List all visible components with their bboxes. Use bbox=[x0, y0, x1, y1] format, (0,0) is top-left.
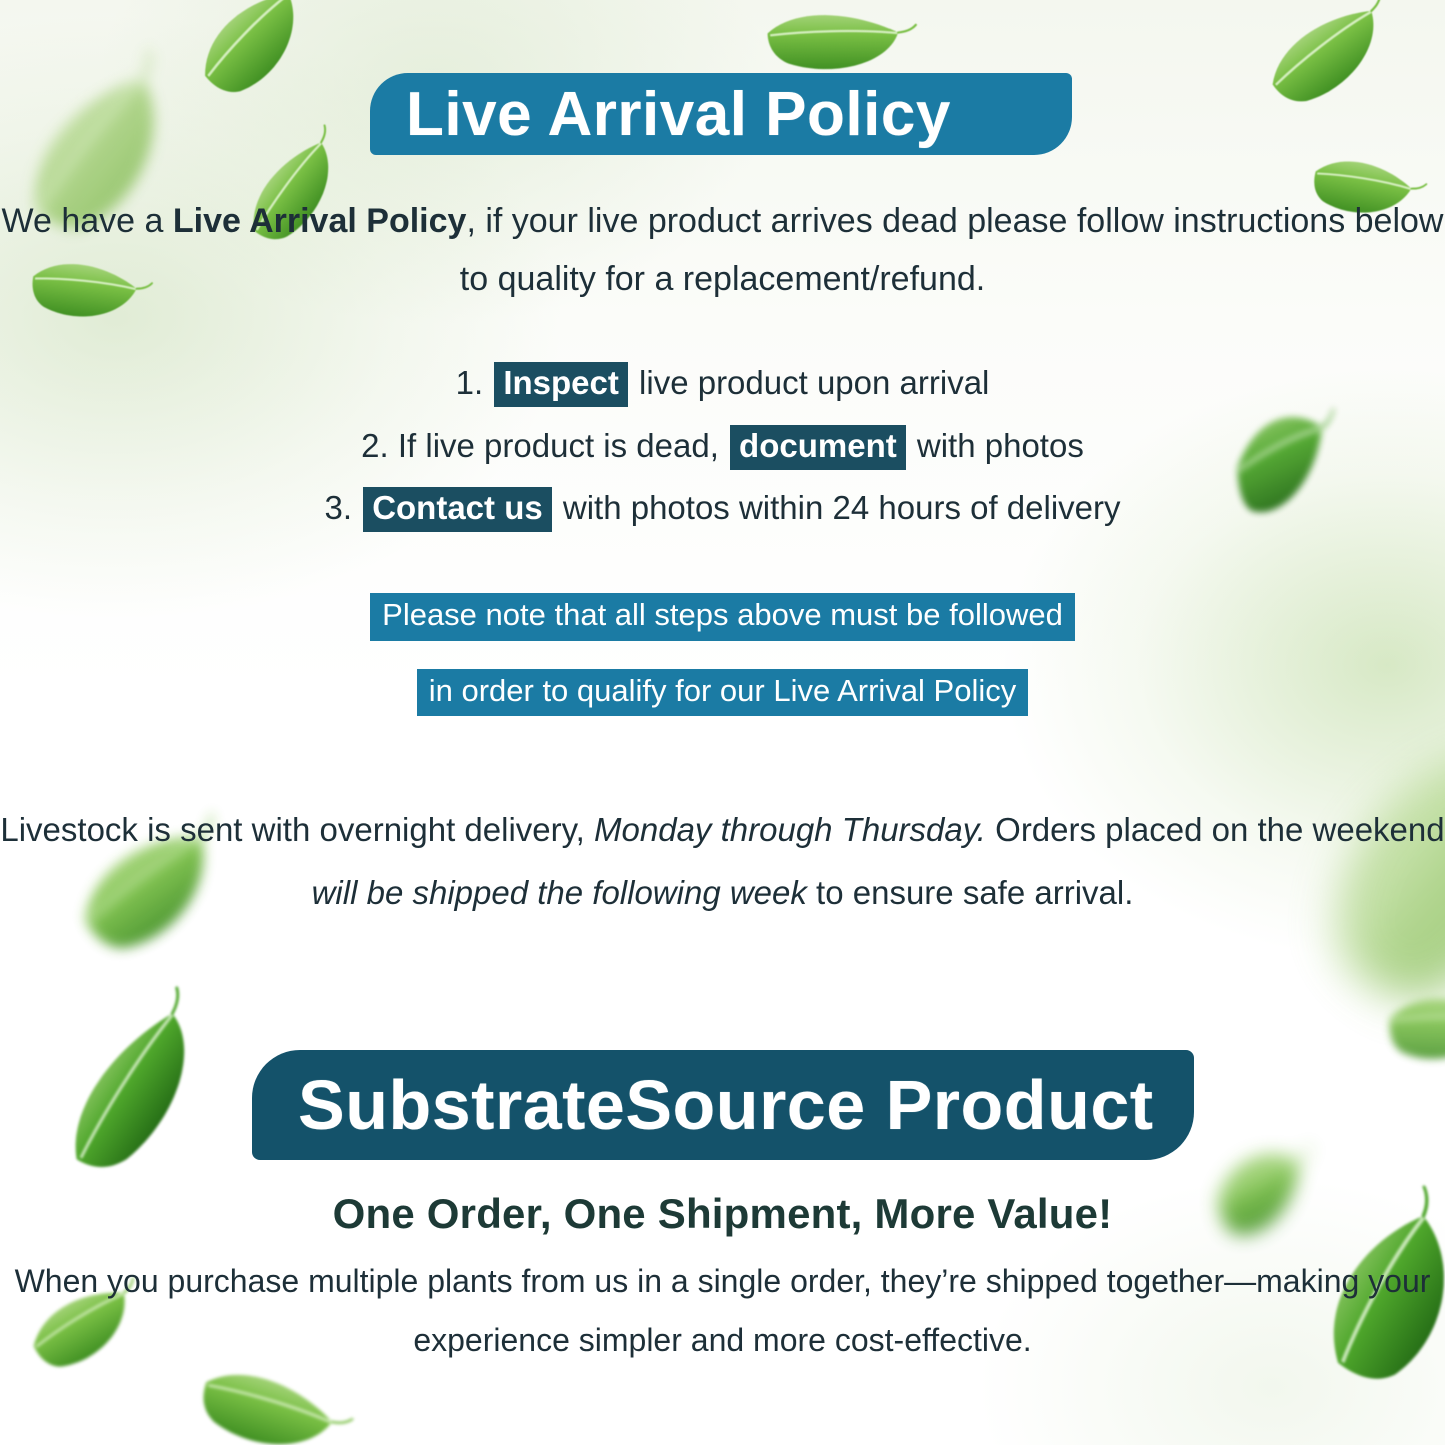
substratesource-product-title: SubstrateSource Product bbox=[298, 1065, 1154, 1145]
step-3-highlight-contact-us[interactable]: Contact us bbox=[363, 487, 552, 532]
step-2-text-before: If live product is dead, bbox=[398, 427, 719, 464]
policy-step-3: 3. Contact us with photos within 24 hour… bbox=[0, 477, 1445, 540]
shipping-schedule-paragraph: Livestock is sent with overnight deliver… bbox=[0, 798, 1445, 925]
shipping-text-3: to ensure safe arrival. bbox=[807, 874, 1134, 911]
policy-note-row-2: in order to qualify for our Live Arrival… bbox=[0, 659, 1445, 723]
shipping-text-2: Orders placed on the weekend bbox=[986, 811, 1445, 848]
shipping-italic-days: Monday through Thursday. bbox=[594, 811, 986, 848]
content-area: Live Arrival Policy We have a Live Arriv… bbox=[0, 0, 1445, 1445]
shipping-italic-following-week: will be shipped the following week bbox=[312, 874, 807, 911]
step-1-text: live product upon arrival bbox=[639, 364, 989, 401]
value-proposition-subheading: One Order, One Shipment, More Value! bbox=[0, 1190, 1445, 1238]
shipping-text-1: Livestock is sent with overnight deliver… bbox=[0, 811, 594, 848]
policy-graphic: Live Arrival Policy We have a Live Arriv… bbox=[0, 0, 1445, 1445]
live-arrival-policy-title: Live Arrival Policy bbox=[406, 79, 951, 150]
policy-note-line-2: in order to qualify for our Live Arrival… bbox=[417, 669, 1029, 717]
intro-paragraph: We have a Live Arrival Policy, if your l… bbox=[0, 192, 1445, 309]
intro-bold-term: Live Arrival Policy bbox=[173, 202, 467, 240]
policy-steps-list: 1. Inspect live product upon arrival 2. … bbox=[0, 352, 1445, 540]
step-1-highlight-inspect: Inspect bbox=[494, 362, 628, 407]
step-2-number: 2. bbox=[361, 427, 389, 464]
step-2-highlight-document: document bbox=[730, 425, 906, 470]
step-1-number: 1. bbox=[456, 364, 484, 401]
policy-note-line-1: Please note that all steps above must be… bbox=[370, 593, 1075, 641]
step-3-text: with photos within 24 hours of delivery bbox=[563, 489, 1121, 526]
policy-step-2: 2. If live product is dead, document wit… bbox=[0, 415, 1445, 478]
step-2-text-after: with photos bbox=[917, 427, 1084, 464]
policy-note-row-1: Please note that all steps above must be… bbox=[0, 583, 1445, 647]
live-arrival-policy-banner: Live Arrival Policy bbox=[370, 73, 1072, 155]
substratesource-product-banner: SubstrateSource Product bbox=[252, 1050, 1194, 1160]
intro-after-bold: , if your live product arrives dead plea… bbox=[460, 202, 1444, 298]
step-3-number: 3. bbox=[324, 489, 352, 526]
intro-before-bold: We have a bbox=[2, 202, 173, 240]
policy-note-block: Please note that all steps above must be… bbox=[0, 583, 1445, 734]
policy-step-1: 1. Inspect live product upon arrival bbox=[0, 352, 1445, 415]
value-proposition-paragraph: When you purchase multiple plants from u… bbox=[0, 1252, 1445, 1370]
